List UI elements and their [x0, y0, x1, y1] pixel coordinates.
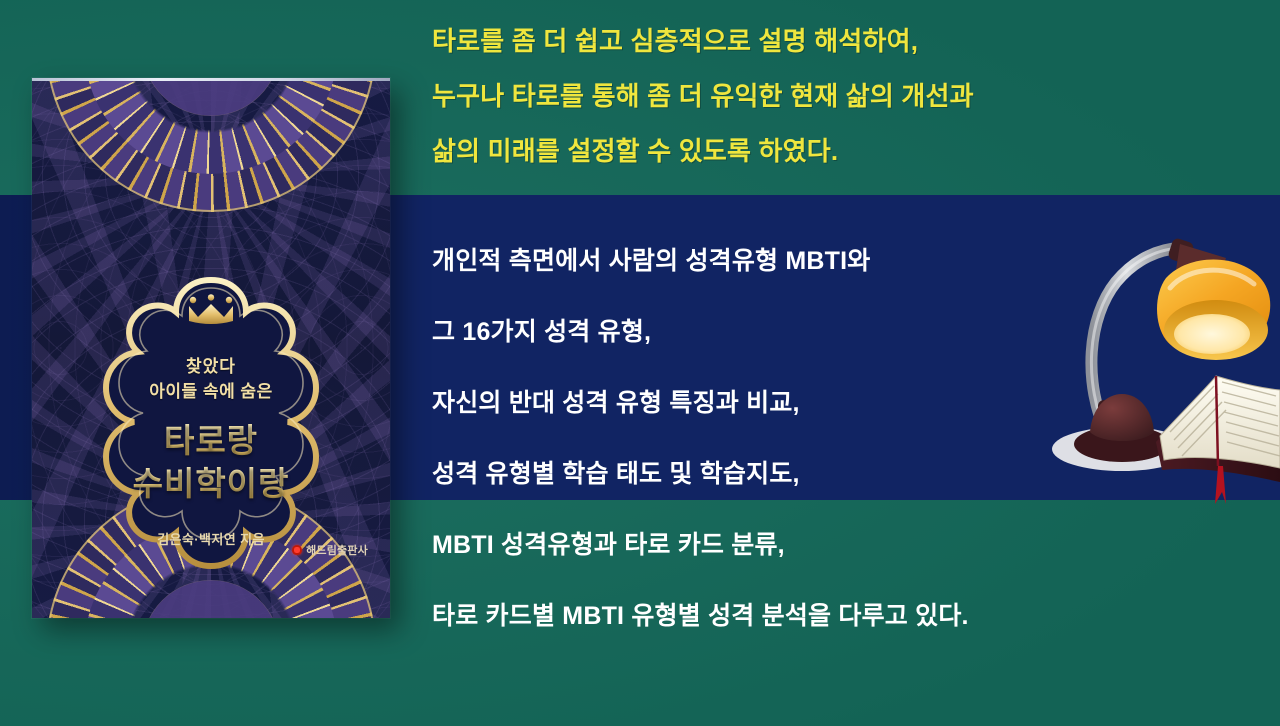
book-cover: 찾았다 아이들 속에 숨은 타로랑 수비학이랑 김은숙·백지연 지음 해드림출판…: [32, 78, 390, 618]
book-authors: 김은숙·백지연 지음: [157, 529, 265, 548]
intro-line-1: 타로를 좀 더 쉽고 심층적으로 설명 해석하여,: [432, 14, 1262, 69]
book-page-edge: [32, 78, 390, 81]
book-title-line-2: 수비학이랑: [133, 463, 290, 505]
book-subtitle-line-1: 찾았다: [186, 355, 236, 380]
intro-line-3: 삶의 미래를 설정할 수 있도록 하였다.: [432, 124, 1262, 179]
slide-canvas: 타로를 좀 더 쉽고 심층적으로 설명 해석하여, 누구나 타로를 통해 좀 더…: [0, 0, 1280, 726]
crown-icon: [183, 294, 239, 333]
publisher-name: 해드림출판사: [306, 542, 368, 558]
open-book-icon: [1156, 376, 1280, 504]
content-line-5: MBTI 성격유형과 타로 카드 분류,: [432, 524, 1272, 595]
lamp-and-book-illustration: [1030, 222, 1280, 512]
red-flower-icon: [292, 545, 302, 555]
book-title-line-1: 타로랑: [164, 420, 258, 462]
content-line-6: 타로 카드별 MBTI 유형별 성격 분석을 다루고 있다.: [432, 595, 1272, 666]
intro-paragraph: 타로를 좀 더 쉽고 심층적으로 설명 해석하여, 누구나 타로를 통해 좀 더…: [432, 14, 1262, 179]
publisher-mark: 해드림출판사: [292, 542, 368, 558]
intro-line-2: 누구나 타로를 통해 좀 더 유익한 현재 삶의 개선과: [432, 69, 1262, 124]
book-subtitle-line-2: 아이들 속에 숨은: [149, 380, 272, 405]
lamp-bulb-glow: [1174, 314, 1250, 354]
book-cover-text: 찾았다 아이들 속에 숨은 타로랑 수비학이랑 김은숙·백지연 지음: [80, 274, 342, 576]
